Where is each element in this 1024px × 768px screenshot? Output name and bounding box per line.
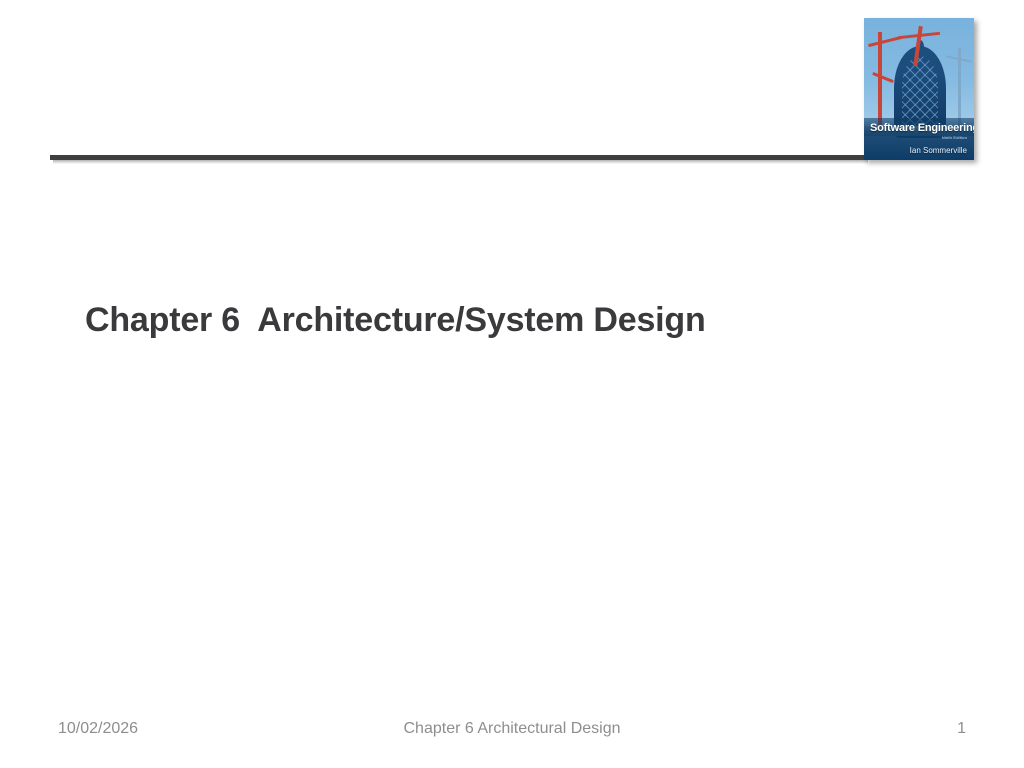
cover-book-title: Software Engineering	[870, 122, 974, 134]
footer-chapter-label: Chapter 6 Architectural Design	[0, 720, 1024, 738]
header-divider-rule	[50, 155, 865, 160]
book-cover-image: Software Engineering Ninth Edition Ian S…	[864, 18, 974, 160]
footer-page-number: 1	[957, 720, 966, 738]
slide-footer: 10/02/2026 Chapter 6 Architectural Desig…	[0, 720, 1024, 750]
cover-book-edition: Ninth Edition	[942, 135, 967, 140]
slide-canvas: Software Engineering Ninth Edition Ian S…	[0, 0, 1024, 768]
cover-title-banner: Software Engineering Ninth Edition Ian S…	[864, 118, 974, 160]
crane-mast-icon	[878, 32, 882, 128]
page-title: Chapter 6 Architecture/System Design	[85, 301, 845, 340]
cover-book-author: Ian Sommerville	[910, 146, 967, 155]
